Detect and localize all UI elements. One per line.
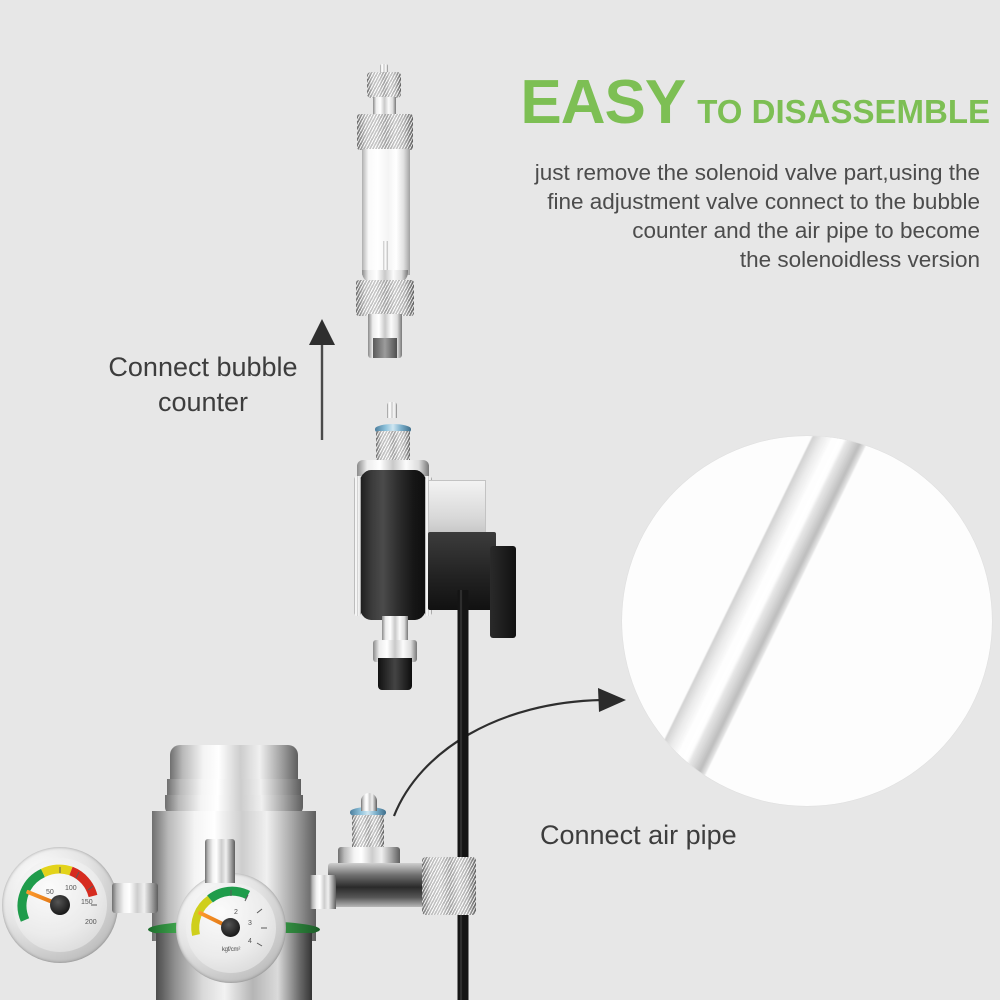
bubble-counter-riser-tube — [383, 241, 388, 271]
fine-valve-stem — [352, 815, 384, 851]
svg-text:150: 150 — [81, 899, 93, 906]
air-pipe-zoom-inset — [622, 436, 992, 806]
body-copy-line: just remove the solenoid valve part,usin… — [480, 158, 980, 187]
valve-outlet-nut — [422, 857, 476, 915]
fine-valve-tip — [361, 793, 377, 811]
bubble-counter-top-cap — [367, 72, 401, 98]
callout-line: Connect air pipe — [540, 818, 970, 853]
body-copy-line: fine adjustment valve connect to the bub… — [480, 187, 980, 216]
arrow-up-icon — [305, 315, 339, 440]
bubble-counter — [352, 64, 418, 358]
body-copy-line: counter and the air pipe to become — [480, 216, 980, 245]
pressure-gauge-low: 2 3 4 kgf/cm² — [176, 873, 286, 983]
solenoid-left-rail — [354, 476, 361, 616]
svg-text:2: 2 — [234, 909, 238, 916]
gauge-low-unit: kgf/cm² — [186, 947, 276, 953]
headline: EASYTO DISASSEMBLE — [430, 72, 990, 134]
callout-connect-air-pipe: Connect air pipe — [540, 818, 970, 853]
gauge-high-stem — [112, 883, 158, 913]
headline-sub: TO DISASSEMBLE — [697, 93, 990, 130]
body-copy-line: the solenoidless version — [480, 245, 980, 274]
body-copy: just remove the solenoid valve part,usin… — [480, 158, 980, 274]
gauge-high-hub — [50, 895, 70, 915]
regulator-left-inlet — [310, 875, 336, 909]
solenoid-top-fitting — [376, 431, 410, 463]
svg-text:3: 3 — [248, 920, 252, 927]
bubble-counter-lower-collar — [356, 280, 414, 316]
solenoid-coil-body — [359, 470, 427, 620]
gauge-low-face: 2 3 4 kgf/cm² — [186, 883, 276, 973]
solenoid-connector-tab — [490, 546, 516, 638]
svg-text:50: 50 — [46, 889, 54, 896]
product-infographic: EASYTO DISASSEMBLE just remove the solen… — [0, 0, 1000, 1000]
bubble-counter-outlet-shadow — [373, 338, 397, 358]
valve-block — [328, 863, 428, 907]
co2-regulator: 50 100 150 200 — [0, 735, 500, 1000]
pressure-gauge-high: 50 100 150 200 — [2, 847, 118, 963]
svg-text:200: 200 — [85, 919, 97, 926]
gauge-low-stem — [205, 839, 235, 883]
solenoid-top-pin — [387, 402, 397, 418]
svg-text:100: 100 — [65, 885, 77, 892]
bubble-counter-neck — [373, 97, 396, 115]
headline-main: EASY — [520, 68, 685, 137]
svg-text:4: 4 — [248, 938, 252, 945]
solenoid-bottom-outlet — [378, 658, 412, 690]
gauge-low-hub — [221, 918, 240, 937]
bubble-counter-upper-collar — [357, 114, 413, 150]
gauge-high-face: 50 100 150 200 — [13, 858, 107, 952]
regulator-top-cap — [170, 745, 298, 783]
solenoid-valve — [340, 402, 540, 712]
